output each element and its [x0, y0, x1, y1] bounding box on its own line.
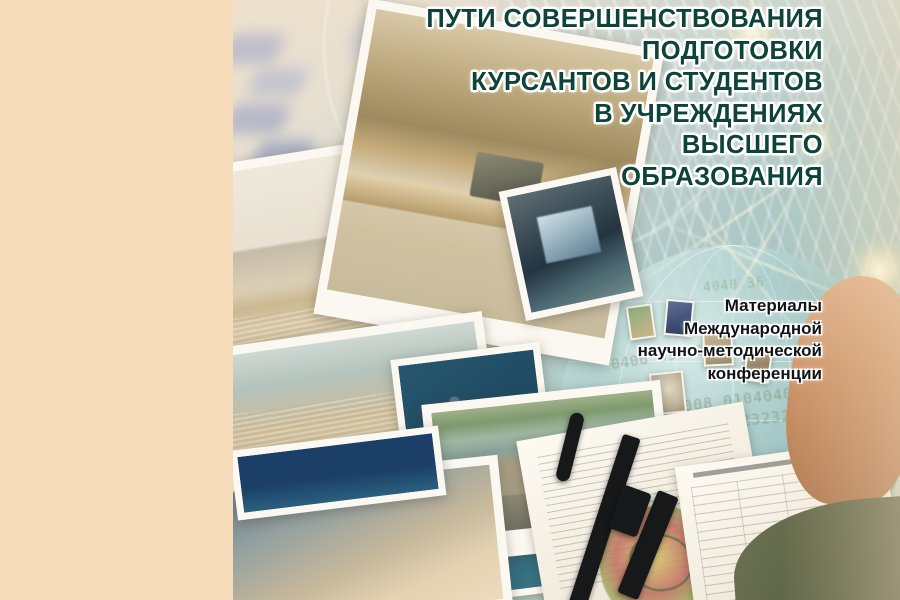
title-line-2: ПОДГОТОВКИ	[303, 36, 823, 68]
subtitle-line-2: Международной	[492, 318, 822, 341]
title-line-6: ОБРАЗОВАНИЯ	[303, 162, 823, 194]
subtitle-line-1: Материалы	[492, 295, 822, 318]
title-line-3: КУРСАНТОВ И СТУДЕНТОВ	[303, 67, 823, 99]
title-line-4: В УЧРЕЖДЕНИЯХ	[303, 99, 823, 131]
conference-cover: 10008 0104040 09000 232320 0406 09090 40…	[0, 0, 900, 600]
cover-title: ПУТИ СОВЕРШЕНСТВОВАНИЯ ПОДГОТОВКИ КУРСАН…	[303, 4, 823, 193]
decor-blob	[233, 34, 286, 64]
subtitle-line-3: научно-методической	[492, 340, 822, 363]
subtitle-line-4: конференции	[492, 363, 822, 386]
decor-blob	[233, 104, 292, 134]
title-line-1: ПУТИ СОВЕРШЕНСТВОВАНИЯ	[303, 4, 823, 36]
decor-blob	[246, 68, 309, 96]
cover-left-margin	[0, 0, 233, 600]
title-line-5: ВЫСШЕГО	[303, 130, 823, 162]
cover-subtitle: Материалы Международной научно-методичес…	[492, 295, 822, 385]
